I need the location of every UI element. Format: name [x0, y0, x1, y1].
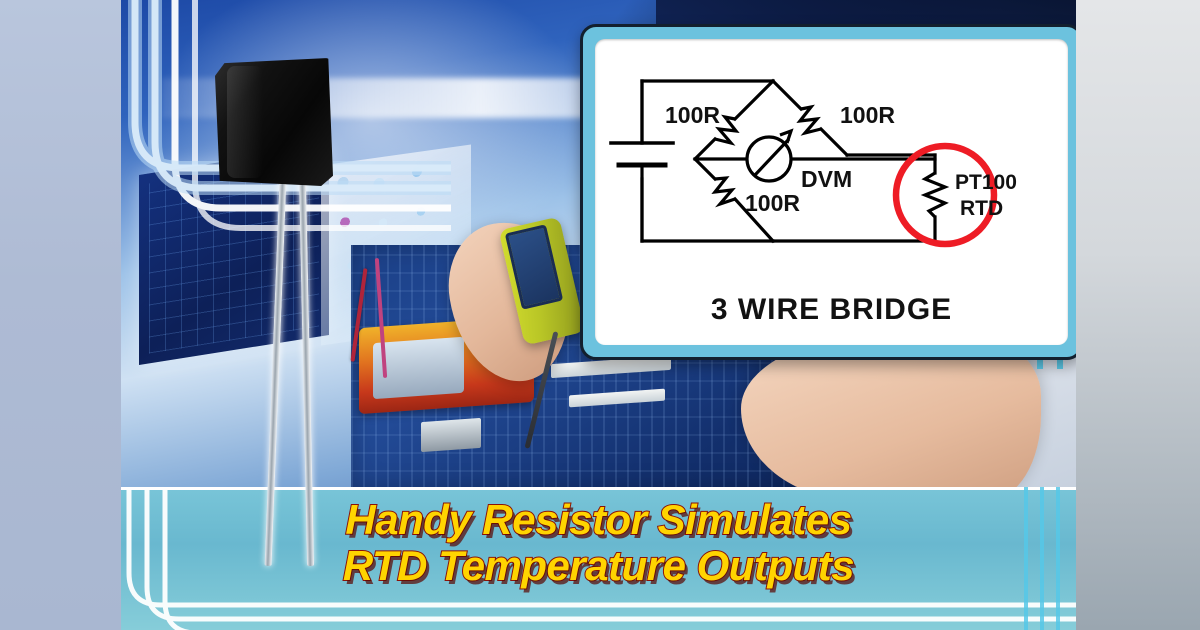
- circuit-diagram-surface: 100R 100R 100R DVM PT100 RTD 3 WIRE BRID…: [595, 39, 1068, 345]
- circuit-diagram-card: 100R 100R 100R DVM PT100 RTD 3 WIRE BRID…: [580, 24, 1076, 360]
- io-port: [421, 418, 481, 452]
- headline: Handy Resistor Simulates RTD Temperature…: [121, 497, 1076, 589]
- label-pt100: PT100: [955, 171, 1017, 194]
- label-dvm: DVM: [801, 166, 852, 192]
- left-page-border: [0, 0, 121, 630]
- label-100r-bottom-left: 100R: [745, 190, 800, 216]
- black-resistor-component: [215, 58, 333, 186]
- diagram-caption: 3 WIRE BRIDGE: [595, 293, 1068, 327]
- rtd-highlight-circle: [896, 146, 994, 244]
- resistor-highlight: [227, 66, 263, 178]
- headline-line-1: Handy Resistor Simulates: [121, 497, 1076, 543]
- label-100r-top-right: 100R: [840, 102, 895, 128]
- graphic-canvas: 100R 100R 100R DVM PT100 RTD 3 WIRE BRID…: [0, 0, 1200, 630]
- artwork-panel: 100R 100R 100R DVM PT100 RTD 3 WIRE BRID…: [121, 0, 1076, 630]
- headline-line-2: RTD Temperature Outputs: [121, 543, 1076, 589]
- label-rtd: RTD: [960, 197, 1003, 220]
- right-page-border: [1076, 0, 1200, 630]
- label-100r-top-left: 100R: [665, 102, 720, 128]
- heatsink-core: [373, 337, 464, 399]
